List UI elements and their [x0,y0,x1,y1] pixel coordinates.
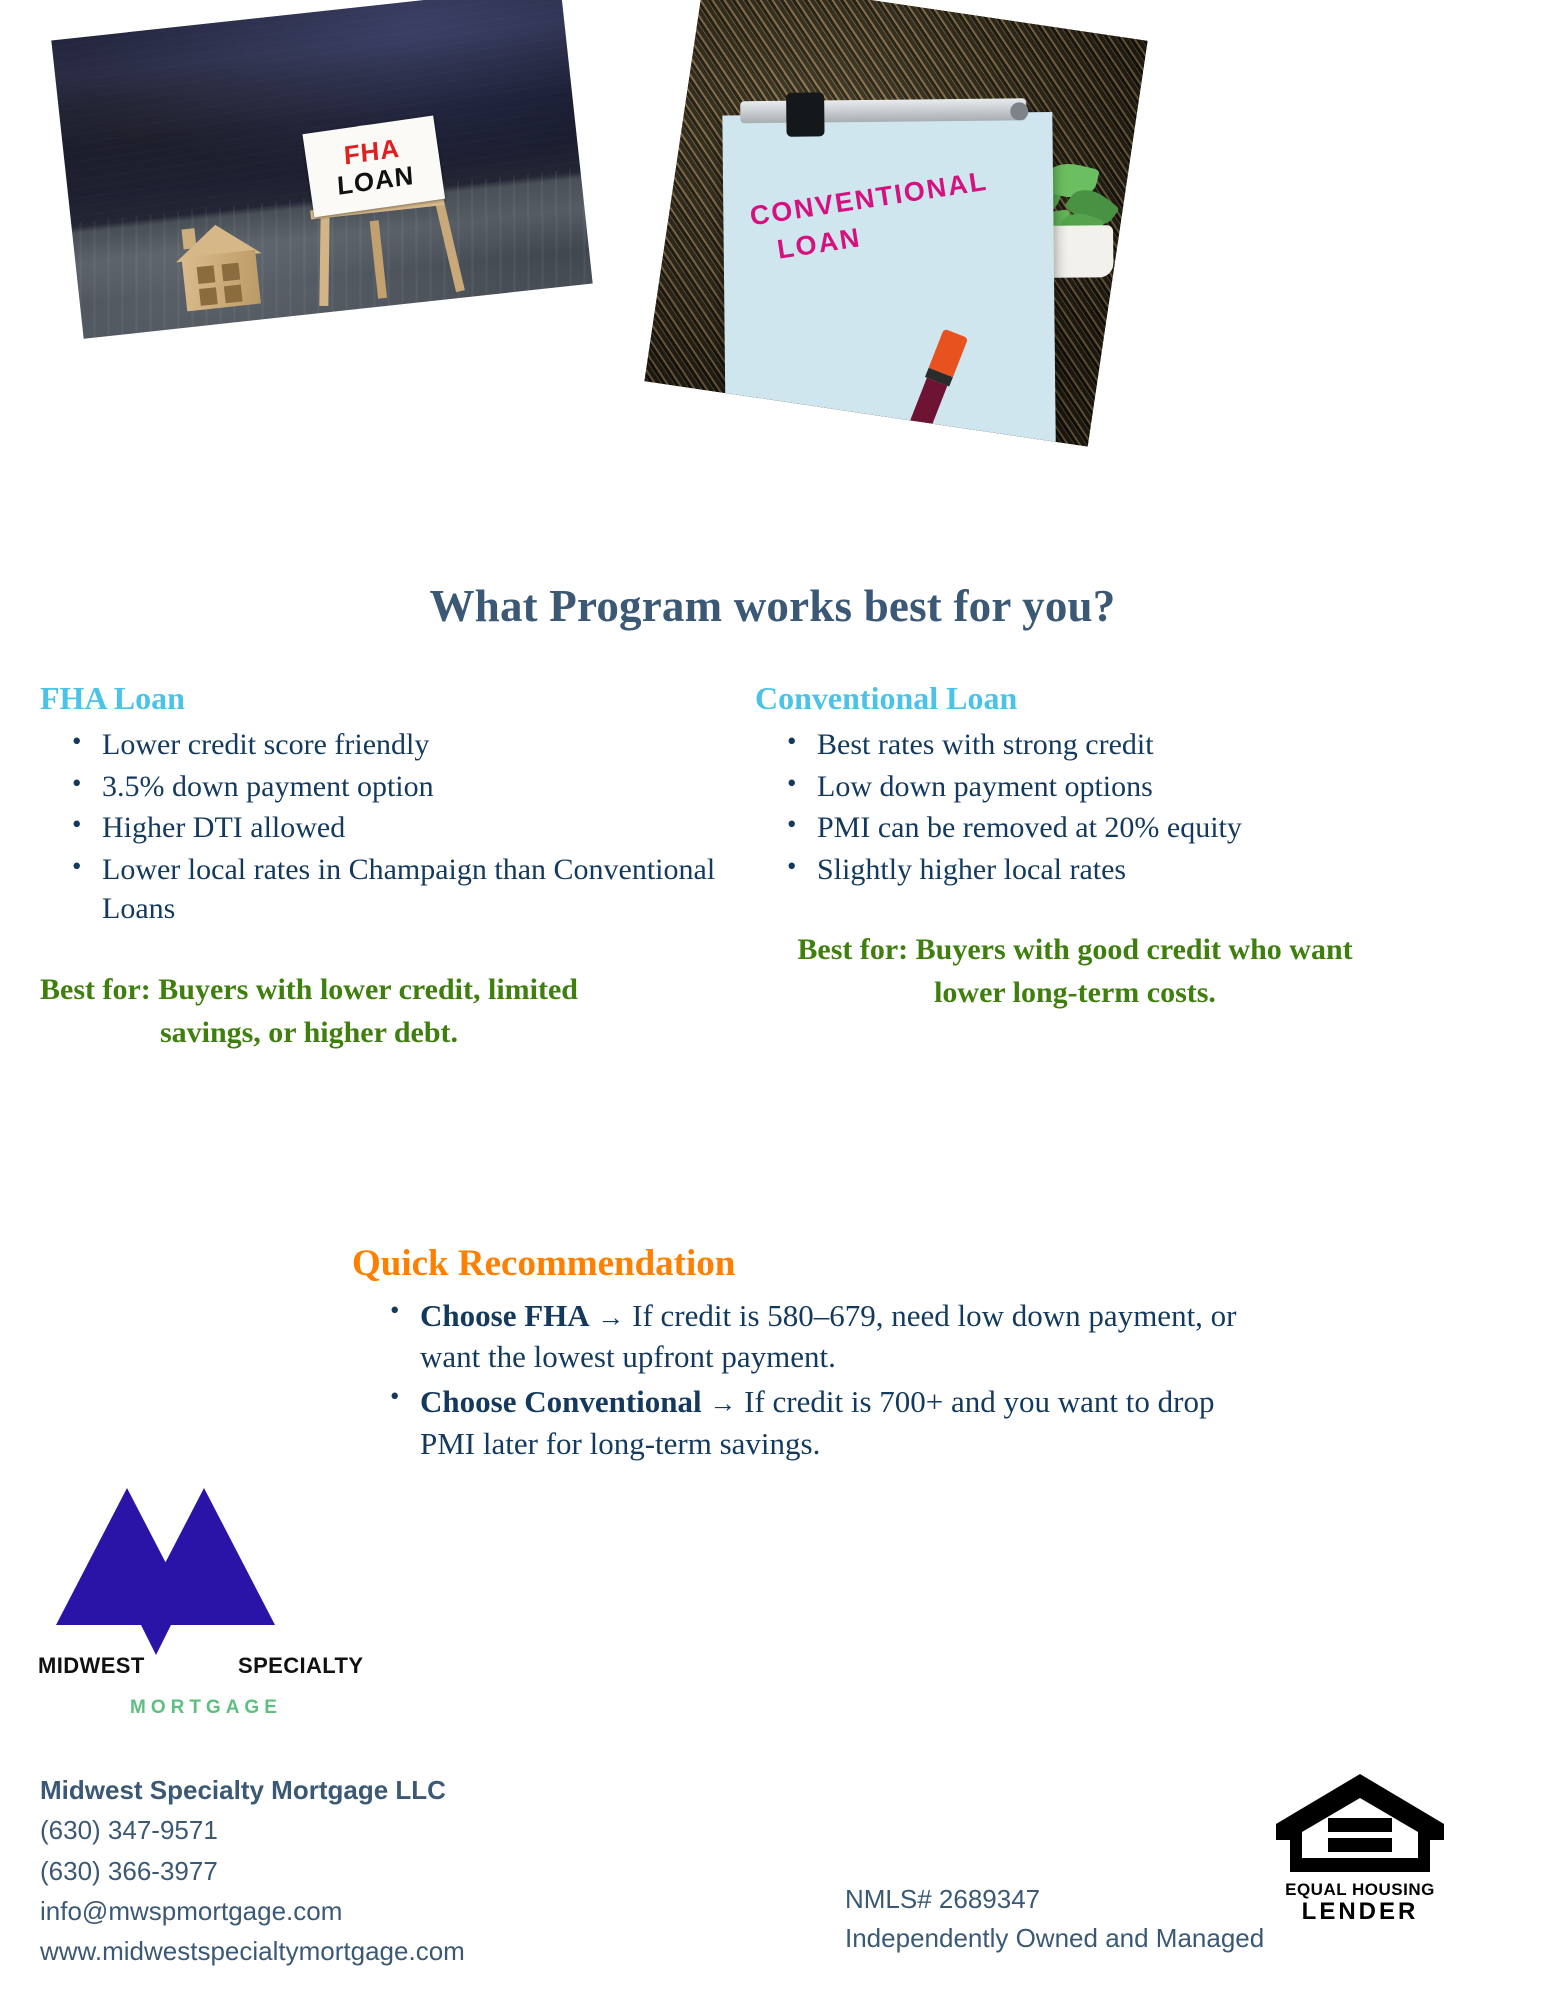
list-item: PMI can be removed at 20% equity [817,808,1445,848]
fha-column-heading: FHA Loan [40,680,730,717]
clipboard-handwriting: CONVENTIONAL LOAN [748,158,1045,269]
arrow-icon: → [709,1388,736,1418]
clipboard: CONVENTIONAL LOAN [722,112,1055,445]
email-address[interactable]: info@mwspmortgage.com [40,1891,465,1931]
list-item: Choose Conventional → If credit is 700+ … [420,1381,1420,1463]
quick-recommendation-heading: Quick Recommendation [352,1242,1545,1285]
fha-loan-photo: FHA LOAN [51,0,592,339]
company-name: Midwest Specialty Mortgage LLC [40,1770,465,1810]
list-item: 3.5% down payment option [102,767,730,807]
photo-banner: FHA LOAN CONVENTIONAL LOAN [0,0,1545,470]
equal-housing-lender-logo: EQUAL HOUSING LENDER [1272,1768,1448,1924]
list-item: Lower credit score friendly [102,725,730,765]
ownership-note: Independently Owned and Managed [845,1919,1264,1958]
recommendation-label: Choose Conventional [420,1384,702,1419]
quick-recommendation-list: Choose FHA → If credit is 580–679, need … [0,1295,1420,1464]
fha-benefits-list: Lower credit score friendly 3.5% down pa… [40,725,730,929]
wooden-house-figurine-icon [172,219,267,312]
list-item: Slightly higher local rates [817,850,1445,890]
quick-recommendation-section: Quick Recommendation Choose FHA → If cre… [0,1242,1545,1468]
list-item: Choose FHA → If credit is 580–679, need … [420,1295,1420,1377]
nmls-number: NMLS# 2689347 [845,1880,1264,1919]
equal-housing-line-2: LENDER [1272,1900,1448,1924]
list-item: Best rates with strong credit [817,725,1445,765]
conventional-column-heading: Conventional Loan [755,680,1445,717]
logo-wordmark: MIDWEST SPECIALTY [38,1653,378,1679]
midwest-m-mark-icon [56,1465,356,1625]
logo-word-midwest: MIDWEST [38,1653,145,1679]
nmls-block: NMLS# 2689347 Independently Owned and Ma… [845,1880,1264,1958]
conventional-best-for-text: Best for: Buyers with good credit who wa… [755,929,1445,1015]
equal-housing-line-1: EQUAL HOUSING [1272,1880,1448,1900]
easel-with-sign: FHA LOAN [298,117,466,307]
fha-loan-column: FHA Loan Lower credit score friendly 3.5… [40,680,730,1055]
phone-secondary[interactable]: (630) 366-3977 [40,1851,465,1891]
list-item: Lower local rates in Champaign than Conv… [102,850,730,929]
website-url[interactable]: www.midwestspecialtymortgage.com [40,1931,465,1971]
arrow-icon: → [597,1302,624,1332]
marker-pen-icon [900,329,968,447]
company-logo: MIDWEST SPECIALTY MORTGAGE [38,1465,378,1719]
recommendation-label: Choose FHA [420,1298,590,1333]
conventional-benefits-list: Best rates with strong credit Low down p… [755,725,1445,889]
phone-primary[interactable]: (630) 347-9571 [40,1810,465,1850]
equal-housing-house-icon [1272,1768,1448,1878]
contact-block: Midwest Specialty Mortgage LLC (630) 347… [40,1770,465,1971]
list-item: Low down payment options [817,767,1445,807]
conventional-loan-photo: CONVENTIONAL LOAN [644,0,1147,447]
list-item: Higher DTI allowed [102,808,730,848]
logo-subtitle-mortgage: MORTGAGE [130,1697,378,1719]
page-title: What Program works best for you? [0,580,1545,632]
logo-word-specialty: SPECIALTY [238,1653,363,1679]
fha-best-for-text: Best for: Buyers with lower credit, limi… [40,969,730,1055]
conventional-loan-column: Conventional Loan Best rates with strong… [755,680,1445,1015]
